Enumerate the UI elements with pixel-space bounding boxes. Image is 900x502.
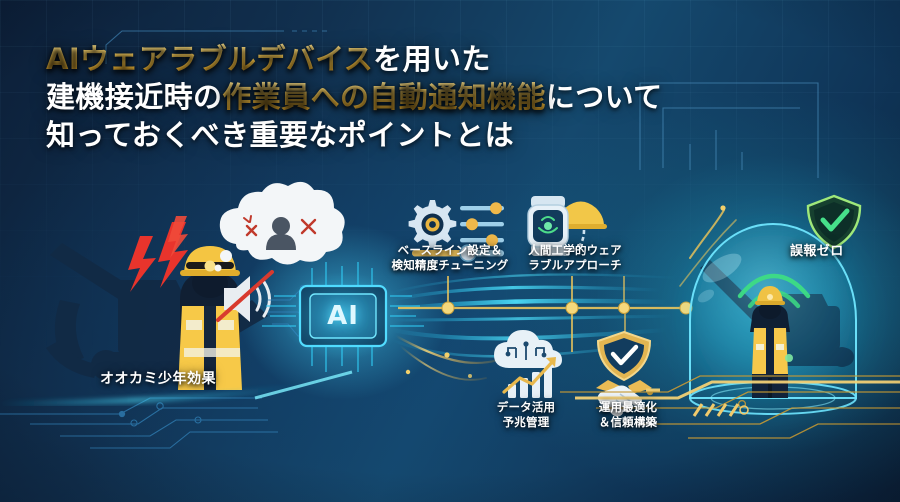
- gear-shape: [409, 200, 457, 248]
- node-label-trust-line2: ＆信頼構築: [576, 415, 680, 430]
- infographic-banner: AIウェアラブルデバイスを用いた 建機接近時の作業員への自動通知機能について 知…: [0, 0, 900, 502]
- right-scene-art: [669, 206, 877, 430]
- headline-line2-gold: 作業員への自動通知機能: [222, 80, 545, 114]
- hard-hat: [184, 246, 236, 272]
- node-label-trust: 運用最適化 ＆信頼構築: [576, 400, 680, 430]
- speaker-muted-icon: [218, 272, 272, 322]
- headline-line-1: AIウェアラブルデバイスを用いた: [46, 40, 663, 78]
- node-label-data-line1: データ活用: [480, 400, 572, 415]
- node-label-wearable-line2: ラブルアプローチ: [519, 258, 631, 273]
- hard-hat: [565, 202, 604, 227]
- data-flow-streams: [392, 210, 736, 380]
- node-rail: [398, 276, 690, 352]
- headline-line-2: 建機接近時の作業員への自動通知機能について: [46, 78, 663, 116]
- bottom-dash-marks: [694, 404, 738, 416]
- node-label-baseline: ベースライン設定＆ 検知精度チューニング: [384, 243, 516, 273]
- headline-line1-gold: AIウェアラブルデバイス: [46, 42, 373, 76]
- thought-bubble-annoyed-icon: [215, 182, 345, 272]
- headline-line3-white: 知っておくべき重要なポイントとは: [46, 118, 514, 152]
- bottom-gold-glow: [575, 382, 900, 398]
- node-rail-dots: [442, 302, 692, 314]
- node-label-trust-line1: 運用最適化: [576, 400, 680, 415]
- node-label-data: データ活用 予兆管理: [480, 400, 572, 430]
- flow-particles: [406, 205, 759, 378]
- headline-line2-white-a: 建機接近時の: [46, 80, 222, 114]
- node-label-wearable-line1: 人間工学的ウェア: [519, 243, 631, 258]
- headline-line1-white: を用いた: [373, 42, 491, 76]
- excavator-silhouette: [46, 243, 268, 380]
- node-label-baseline-line2: 検知精度チューニング: [384, 258, 516, 273]
- node-label-wearable: 人間工学的ウェア ラブルアプローチ: [519, 243, 631, 273]
- bottom-left-glow: [0, 386, 300, 404]
- page-title: AIウェアラブルデバイスを用いた 建機接近時の作業員への自動通知機能について 知…: [46, 40, 663, 154]
- headline-line-3: 知っておくべき重要なポイントとは: [46, 116, 663, 154]
- node-label-data-line2: 予兆管理: [480, 415, 572, 430]
- ai-chip-label: AI: [300, 286, 386, 346]
- protected-worker: [750, 286, 793, 398]
- bottom-left-circuit: [0, 398, 278, 448]
- badge-zero-false-alarm: 誤報ゼロ: [790, 240, 844, 259]
- alert-bolt-icon: [128, 216, 188, 292]
- caption-wolf-effect: オオカミ少年効果: [100, 368, 216, 388]
- signal-waves-icon: [740, 276, 808, 306]
- cloud-analytics-icon: [494, 330, 562, 398]
- headline-line2-white-b: について: [546, 80, 663, 114]
- top-right-circuit: [640, 83, 818, 178]
- excavator-silhouette-right: [700, 260, 854, 367]
- node-label-baseline-line1: ベースライン設定＆: [384, 243, 516, 258]
